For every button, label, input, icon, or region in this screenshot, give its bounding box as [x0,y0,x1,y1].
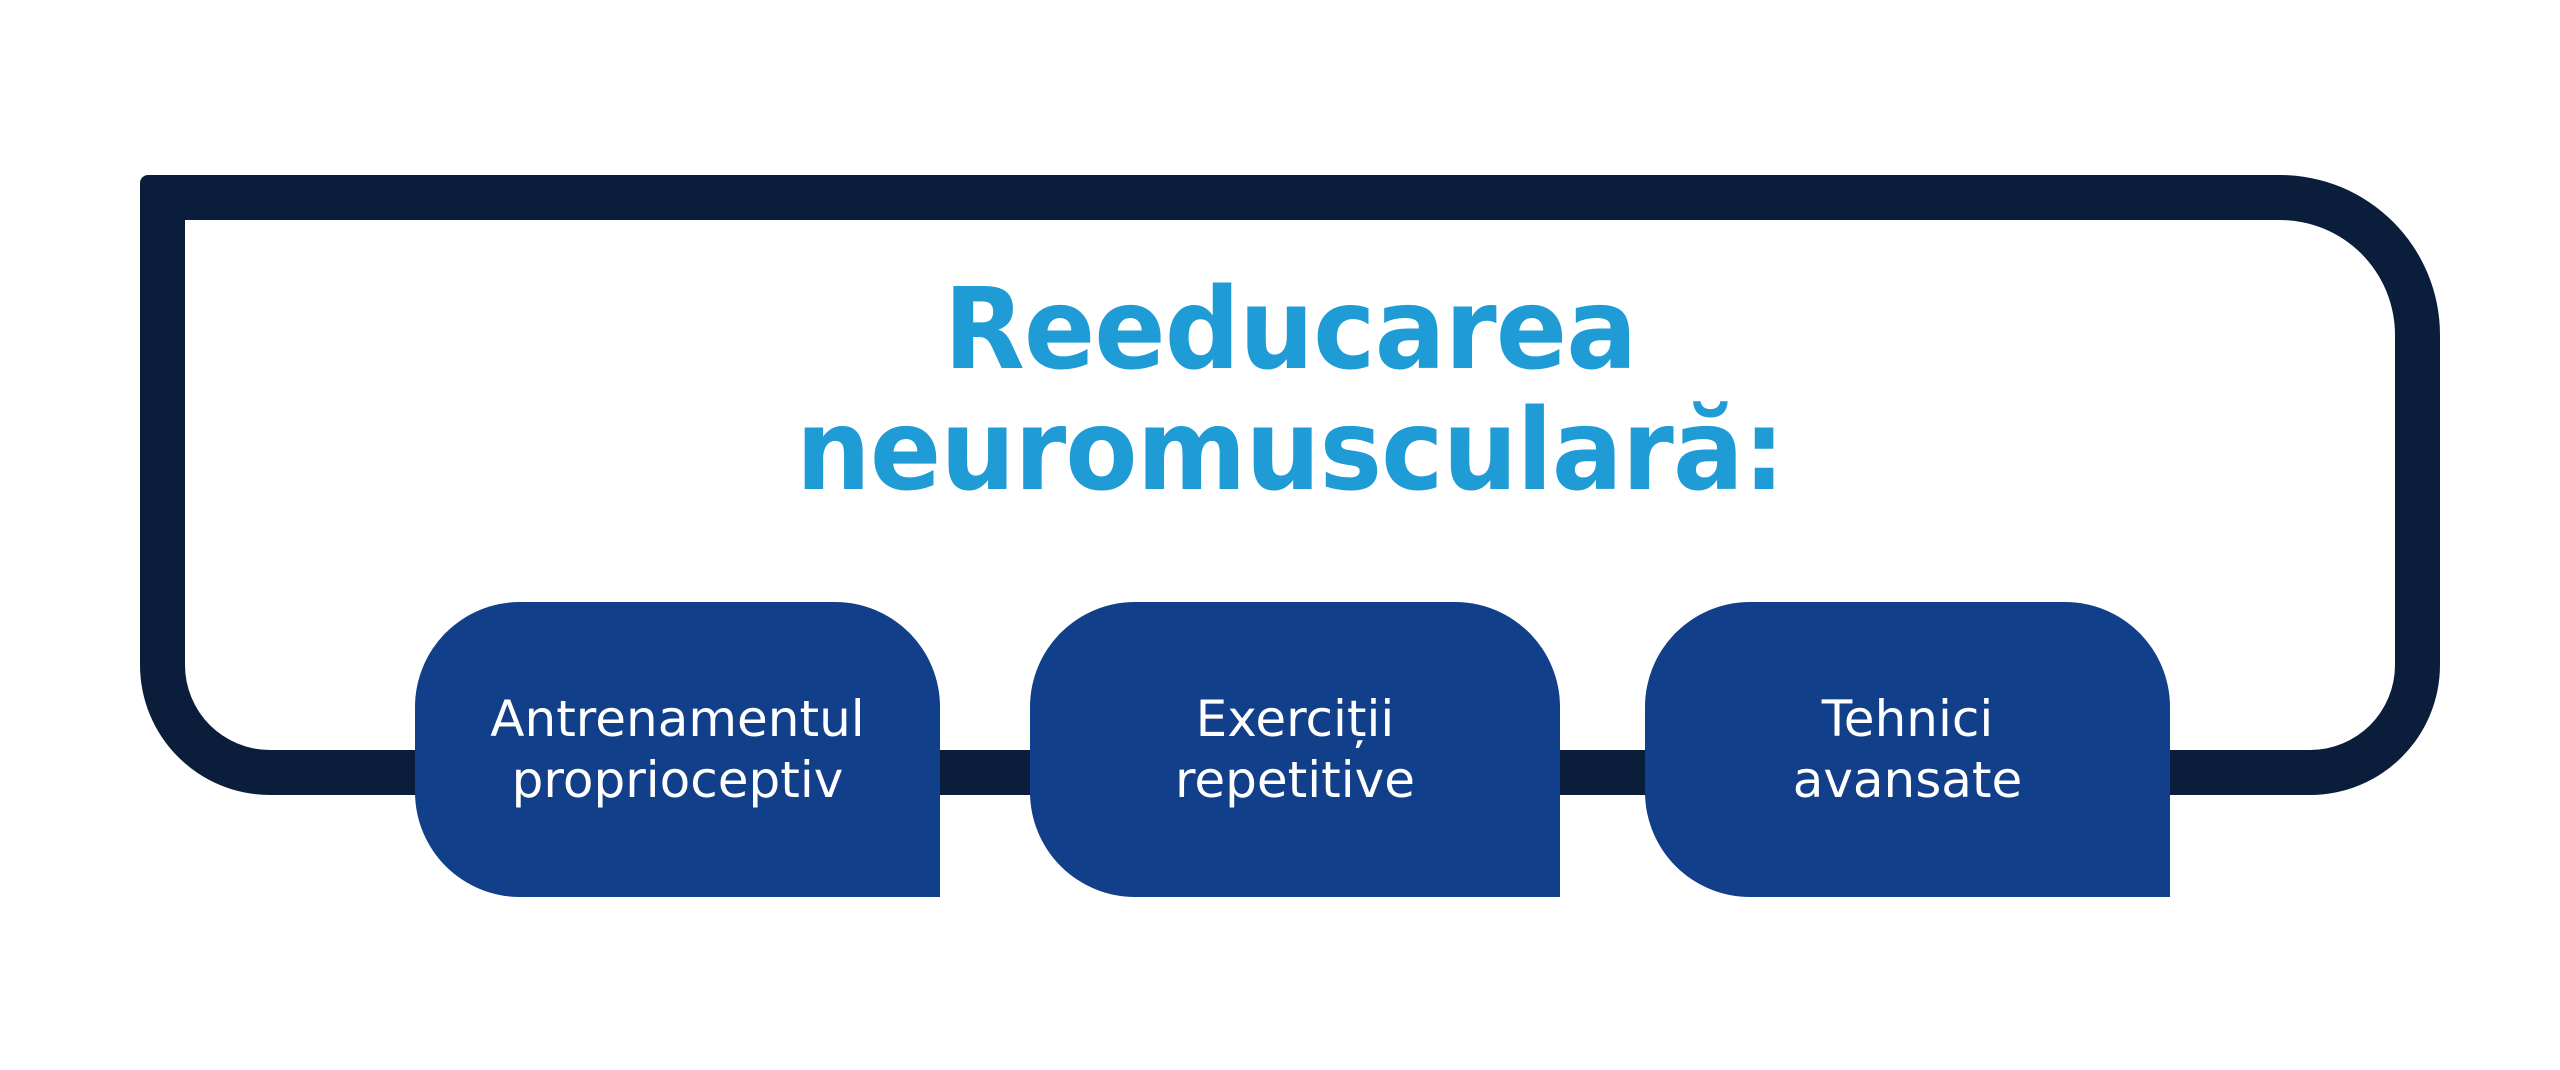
badge-label: Exerciții repetitive [1157,689,1433,811]
badge-exercitii-repetitive[interactable]: Exerciții repetitive [1030,602,1560,897]
badge-label: Antrenamentul proprioceptiv [472,689,882,811]
badge-tehnici-avansate[interactable]: Tehnici avansate [1645,602,2170,897]
infographic-canvas: Reeducarea neuromusculară: Antrenamentul… [0,0,2560,1070]
page-title: Reeducarea neuromusculară: [140,270,2440,512]
badge-label: Tehnici avansate [1775,689,2041,811]
title-line-1: Reeducarea [209,270,2371,391]
badge-antrenamentul-proprioceptiv[interactable]: Antrenamentul proprioceptiv [415,602,940,897]
title-line-2: neuromusculară: [209,391,2371,512]
